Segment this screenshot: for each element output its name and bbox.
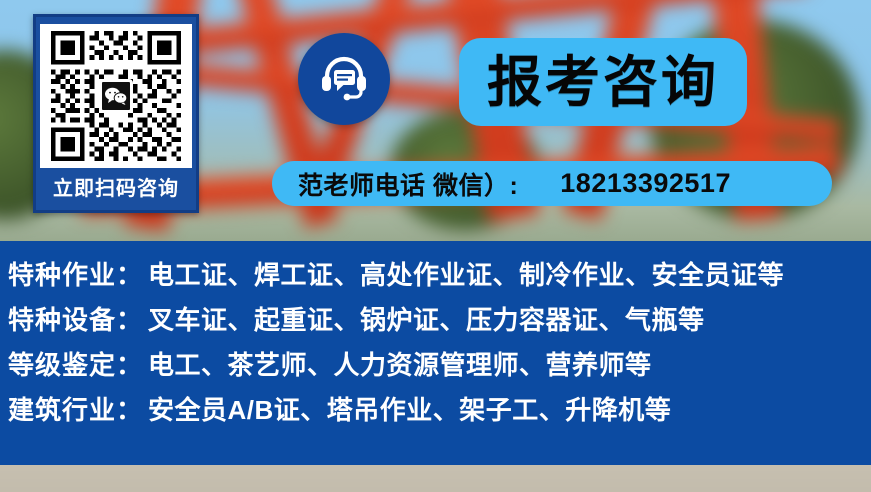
service-row-special-operations: 特种作业 ： 电工证、焊工证、高处作业证、制冷作业、安全员证等 [8, 255, 871, 300]
service-separator: ： [116, 255, 142, 292]
headset-glyph [315, 50, 373, 108]
service-separator: ： [116, 345, 142, 382]
qr-caption: 立即扫码咨询 [53, 168, 179, 210]
qr-code-card[interactable]: 立即扫码咨询 [33, 14, 199, 213]
service-category-label: 建筑行业 [8, 390, 116, 427]
contact-phone-number[interactable]: 18213392517 [560, 168, 731, 199]
wechat-glyph [104, 87, 128, 105]
service-items-label: 叉车证、起重证、锅炉证、压力容器证、气瓶等 [148, 300, 705, 337]
service-row-construction-industry: 建筑行业 ： 安全员A/B证、塔吊作业、架子工、升降机等 [8, 390, 871, 435]
services-panel: 特种作业 ： 电工证、焊工证、高处作业证、制冷作业、安全员证等 特种设备 ： 叉… [0, 241, 871, 465]
promo-poster: 立即扫码咨询 报考咨询 范老师电话 微信）: 18213392517 特种作业 … [0, 0, 871, 492]
service-category-label: 特种设备 [8, 300, 116, 337]
service-items-label: 安全员A/B证、塔吊作业、架子工、升降机等 [148, 390, 671, 427]
service-category-label: 等级鉴定 [8, 345, 116, 382]
service-items-label: 电工、茶艺师、人力资源管理师、营养师等 [148, 345, 652, 382]
page-title: 报考咨询 [487, 55, 719, 110]
service-separator: ： [116, 390, 142, 427]
contact-label: 范老师电话 微信）: [298, 166, 518, 202]
service-row-grade-assessment: 等级鉴定 ： 电工、茶艺师、人力资源管理师、营养师等 [8, 345, 871, 390]
qr-code-field[interactable] [40, 24, 192, 168]
headline-pill: 报考咨询 [459, 38, 747, 126]
service-separator: ： [116, 300, 142, 337]
service-category-label: 特种作业 [8, 255, 116, 292]
headset-support-icon [298, 33, 390, 125]
service-items-label: 电工证、焊工证、高处作业证、制冷作业、安全员证等 [148, 255, 784, 292]
service-row-special-equipment: 特种设备 ： 叉车证、起重证、锅炉证、压力容器证、气瓶等 [8, 300, 871, 345]
wechat-icon [99, 79, 133, 113]
contact-pill[interactable]: 范老师电话 微信）: 18213392517 [272, 161, 832, 206]
